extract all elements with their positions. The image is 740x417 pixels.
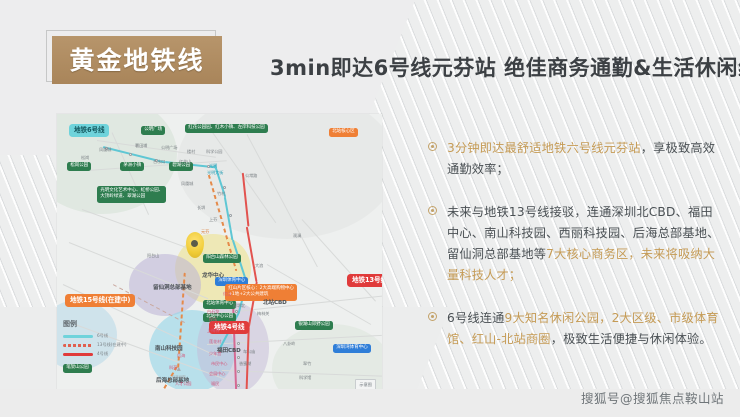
- map-legend-swatch: [63, 353, 93, 356]
- map-venue-chip-0: 深圳湾体育中心: [333, 344, 371, 353]
- map-station-label-35: 大浪: [255, 264, 263, 268]
- benefit-bullet-text: 6号线连通9大知名休闲公园，2大区级、市级体育馆、红山-北站商圈，极致生活便捷与…: [447, 308, 720, 350]
- map-park-chip-0: 公明广场: [141, 126, 165, 135]
- map-station-label-11: 长圳: [197, 206, 205, 210]
- map-station-label-3: 科学公园: [206, 150, 222, 154]
- station-dot: [129, 153, 132, 156]
- benefit-bullet-text: 未来与地铁13号线接驳，连通深圳北CBD、福田中心、南山科技园、西丽科技园、后海…: [447, 202, 720, 286]
- map-park-chip-7: 北站体育中心: [203, 300, 236, 309]
- map-legend-swatch: [63, 335, 93, 338]
- map-district-chip-0: 北站核心区: [329, 128, 358, 137]
- map-station-label-13: 上芬: [209, 218, 217, 222]
- map-park-chip-5: 光明文化艺术中心、虹桥公园、 大顶岭绿道、翠湖公园: [97, 186, 166, 203]
- map-station-label-30: 车公庙: [243, 350, 255, 354]
- title-badge-label: 黄金地铁线: [69, 48, 204, 73]
- benefit-bullet-text: 3分钟即达最舒适地铁六号线元芬站，享极致高效通勤效率；: [447, 138, 720, 180]
- map-legend-row: 4号线: [63, 351, 145, 357]
- map-station-label-23: 市民中心: [211, 362, 227, 366]
- map-legend-row: 13号线(在建中): [63, 342, 145, 348]
- map-area-label-4: 北站CBD: [263, 301, 287, 307]
- map-station-label-1: 公明广场: [161, 146, 177, 150]
- compass-needle-icon: ▲: [172, 366, 186, 373]
- map-station-label-18: 白石龙: [207, 310, 219, 314]
- station-dot: [237, 384, 240, 387]
- benefit-bullet-list: 3分钟即达最舒适地铁六号线元芬站，享极致高效通勤效率；未来与地铁13号线接驳，连…: [428, 138, 720, 350]
- map-station-label-32: 八卦岭: [283, 342, 295, 346]
- station-dot: [237, 356, 240, 359]
- benefit-bullet-item: 未来与地铁13号线接驳，连通深圳北CBD、福田中心、南山科技园、西丽科技园、后海…: [428, 202, 720, 286]
- map-station-label-20: 上梅林: [207, 329, 219, 333]
- map-station-label-36: 观澜: [293, 234, 301, 238]
- map-station-label-6: 合水口: [153, 160, 165, 164]
- map-park-chip-1: 红花公园园、红木小镇、左岸科技公园: [185, 124, 268, 133]
- map-area-label-1: 南山科技园: [155, 347, 182, 353]
- map-station-label-10: 凤凰城: [181, 182, 193, 186]
- map-park-chip-3: 茅洲小镇: [120, 162, 144, 171]
- line-15-badge: 地铁15号线(在建中): [65, 294, 135, 307]
- map-station-label-24: 会展中心: [209, 372, 225, 376]
- map-legend-swatch: [63, 344, 93, 347]
- map-station-label-17: 梅林关: [257, 312, 269, 316]
- map-station-label-7: 红花山: [179, 160, 191, 164]
- map-legend: 图例 6号线13号线(在建中)4号线: [63, 319, 145, 360]
- benefit-bullet-item: 6号线连通9大知名休闲公园，2大区级、市级体育馆、红山-北站商圈，极致生活便捷与…: [428, 308, 720, 350]
- map-canvas: 公明广场红花公园园、红木小镇、左岸科技公园松岗公园茅洲小镇碧湖公园光明文化艺术中…: [57, 114, 382, 396]
- map-legend-row: 6号线: [63, 333, 145, 339]
- ring-bullet-icon: [428, 142, 437, 151]
- map-legend-label: 13号线(在建中): [97, 342, 127, 348]
- title-badge-box: 黄金地铁线: [52, 36, 222, 84]
- map-station-label-15: 红山: [223, 292, 231, 296]
- ring-bullet-icon: [428, 206, 437, 215]
- map-area-label-3: 龙华中心: [202, 274, 224, 280]
- map-station-label-14: 阳台山: [147, 254, 159, 258]
- map-station-label-9: 光明大街: [207, 171, 223, 175]
- bullet-highlight-text: 3分钟即达最舒适地铁六号线元芬站: [447, 141, 641, 155]
- station-dot: [235, 310, 238, 313]
- map-park-chip-6: 阳台山森林公园: [203, 254, 241, 263]
- station-dot: [229, 214, 232, 217]
- station-dot: [223, 186, 226, 189]
- map-station-label-19: 民乐: [209, 318, 217, 322]
- title-badge: 黄金地铁线: [52, 36, 222, 88]
- map-legend-label: 6号线: [97, 333, 108, 339]
- map-station-label-16: 深圳北: [233, 304, 245, 308]
- map-station-label-4: 凤凰城: [99, 148, 111, 152]
- ring-bullet-icon: [428, 312, 437, 321]
- compass-icon: ▲ 百度地图: [172, 366, 186, 379]
- benefit-bullet-item: 3分钟即达最舒适地铁六号线元芬站，享极致高效通勤效率；: [428, 138, 720, 180]
- map-area-label-0: 留仙洞总部基地: [153, 286, 191, 292]
- watermark: 搜狐号@搜狐焦点鞍山站: [581, 388, 724, 407]
- map-station-label-28: 人才公园: [175, 382, 191, 386]
- map-park-chip-9: 银湖山郊野公园: [295, 321, 333, 330]
- map-station-label-34: 科学馆: [299, 376, 311, 380]
- map-station-label-29: 后海: [177, 354, 185, 358]
- station-dot: [237, 370, 240, 373]
- map-station-label-8: 光明: [209, 164, 217, 168]
- map-station-label-22: 少年宫: [209, 352, 221, 356]
- map-station-label-21: 莲花村: [209, 340, 221, 344]
- yuanfen-highlight-dot: [191, 240, 198, 247]
- map-legend-rows: 6号线13号线(在建中)4号线: [63, 333, 145, 357]
- slide-subtitle: 3min即达6号线元芬站 绝佳商务通勤&生活休闲线: [270, 52, 740, 82]
- bullet-highlight-text: 7大核心商务区: [546, 247, 628, 261]
- map-legend-label: 4号线: [97, 351, 108, 357]
- map-park-chip-10: 笔架山公园: [63, 364, 92, 373]
- map-district-chip-1: 红山片区核心：2大高端购物中心 +1地+2大公共建筑: [225, 284, 297, 301]
- map-station-label-38: 公常路: [245, 174, 257, 178]
- map-park-chip-2: 松岗公园: [67, 162, 91, 171]
- bullet-plain-text: 6号线连通: [447, 311, 505, 325]
- map-station-label-2: 楼村: [187, 150, 195, 154]
- map-station-label-25: 福民: [211, 382, 219, 386]
- line-6-badge: 地铁6号线: [69, 124, 109, 137]
- line-13-badge: 地铁13号线: [347, 274, 382, 287]
- map-station-label-37: 竹村: [217, 192, 225, 196]
- slide-header: 黄金地铁线 3min即达6号线元芬站 绝佳商务通勤&生活休闲线: [0, 0, 740, 108]
- bullet-plain-text: ，极致生活便捷与休闲体验。: [551, 332, 712, 346]
- metro-map-card[interactable]: 公明广场红花公园园、红木小镇、左岸科技公园松岗公园茅洲小镇碧湖公园光明文化艺术中…: [57, 114, 382, 396]
- station-dot: [237, 342, 240, 345]
- compass-attribution: 百度地图: [172, 374, 186, 379]
- map-station-label-31: 香蜜湖: [239, 362, 251, 366]
- map-station-label-33: 翠竹: [303, 362, 311, 366]
- map-legend-title: 图例: [63, 319, 145, 329]
- map-station-label-5: 松岗: [81, 156, 89, 160]
- slide-root: 黄金地铁线 3min即达6号线元芬站 绝佳商务通勤&生活休闲线: [0, 0, 740, 417]
- map-station-label-0: 薯田埔: [135, 144, 147, 148]
- map-station-label-12: 元芬: [201, 230, 209, 234]
